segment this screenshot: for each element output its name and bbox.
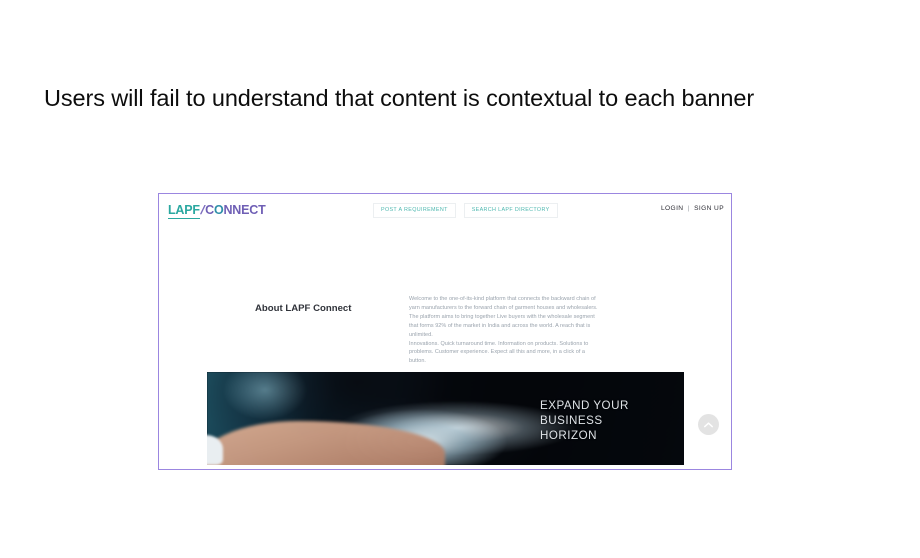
hero-banner[interactable]: EXPAND YOUR BUSINESS HORIZON xyxy=(207,372,684,465)
signup-link[interactable]: SIGN UP xyxy=(694,205,724,212)
about-paragraph-1: Welcome to the one-of-its-kind platform … xyxy=(409,295,601,340)
scroll-to-top-button[interactable] xyxy=(698,414,719,435)
website-screenshot-frame: LAPF / CONNECT POST A REQUIREMENT SEARCH… xyxy=(158,193,732,470)
slide-title: Users will fail to understand that conte… xyxy=(44,85,864,112)
site-header: LAPF / CONNECT POST A REQUIREMENT SEARCH… xyxy=(159,194,731,227)
brand-logo-connect-rest: NNECT xyxy=(223,203,265,217)
login-link[interactable]: LOGIN xyxy=(661,205,684,212)
about-heading: About LAPF Connect xyxy=(255,303,351,314)
brand-logo-connect-c: C xyxy=(205,203,214,217)
banner-headline-line-2: BUSINESS xyxy=(540,414,629,429)
banner-headline-line-3: HORIZON xyxy=(540,429,629,444)
header-auth-links: LOGIN | SIGN UP xyxy=(661,205,724,212)
banner-section: EXPAND YOUR BUSINESS HORIZON xyxy=(159,372,731,470)
brand-logo[interactable]: LAPF / CONNECT xyxy=(168,204,266,219)
chevron-up-icon xyxy=(704,422,713,428)
header-nav: POST A REQUIREMENT SEARCH LAPF DIRECTORY xyxy=(373,203,558,218)
brand-logo-lapf: LAPF xyxy=(168,204,200,219)
about-body: Welcome to the one-of-its-kind platform … xyxy=(409,295,601,366)
post-a-requirement-button[interactable]: POST A REQUIREMENT xyxy=(373,203,456,218)
banner-headline: EXPAND YOUR BUSINESS HORIZON xyxy=(540,399,629,443)
brand-logo-connect: CONNECT xyxy=(205,204,265,217)
auth-separator: | xyxy=(688,205,690,212)
banner-headline-line-1: EXPAND YOUR xyxy=(540,399,629,414)
about-paragraph-2: Innovations. Quick turnaround time. Info… xyxy=(409,340,601,367)
about-section: About LAPF Connect Welcome to the one-of… xyxy=(159,227,731,372)
search-lapf-directory-button[interactable]: SEARCH LAPF DIRECTORY xyxy=(464,203,558,218)
